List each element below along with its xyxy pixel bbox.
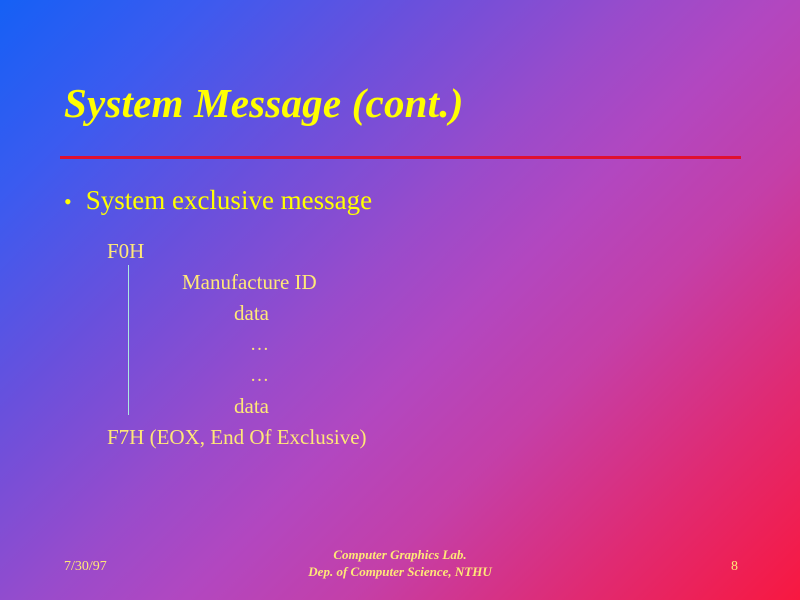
list-item: … bbox=[250, 360, 800, 391]
list-item: Manufacture ID bbox=[182, 267, 800, 298]
list-item: data bbox=[234, 391, 800, 422]
title-divider-rule bbox=[60, 156, 741, 159]
slide-title: System Message (cont.) bbox=[64, 82, 764, 125]
bullet-item: • System exclusive message bbox=[64, 185, 372, 216]
list-item: … bbox=[250, 329, 800, 360]
slide-canvas: System Message (cont.) • System exclusiv… bbox=[0, 0, 800, 600]
list-item: F7H (EOX, End Of Exclusive) bbox=[107, 422, 800, 453]
footer-org-line-2: Dep. of Computer Science, NTHU bbox=[0, 563, 800, 580]
list-item: data bbox=[234, 298, 800, 329]
footer-organization: Computer Graphics Lab. Dep. of Computer … bbox=[0, 546, 800, 580]
bullet-point-icon: • bbox=[64, 191, 72, 213]
message-structure-list: F0H Manufacture ID data … … data F7H (EO… bbox=[0, 236, 800, 453]
list-item: F0H bbox=[107, 236, 800, 267]
footer-org-line-1: Computer Graphics Lab. bbox=[0, 546, 800, 563]
footer-page-number: 8 bbox=[731, 559, 738, 575]
bullet-item-label: System exclusive message bbox=[86, 185, 372, 216]
